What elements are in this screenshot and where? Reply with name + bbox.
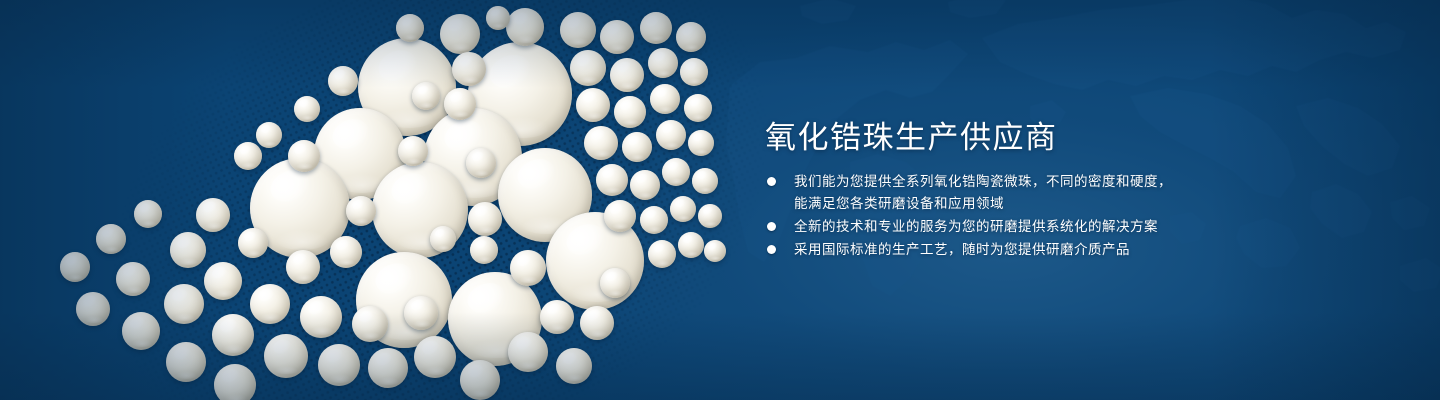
hero-banner: 氧化锆珠生产供应商 我们能为您提供全系列氧化锆陶瓷微珠，不同的密度和硬度， 能满… bbox=[0, 0, 1440, 400]
bullet-text-line: 能满足您各类研磨设备和应用领域 bbox=[794, 193, 1237, 215]
bullet-text-line: 采用国际标准的生产工艺，随时为您提供研磨介质产品 bbox=[794, 239, 1237, 261]
list-item: 采用国际标准的生产工艺，随时为您提供研磨介质产品 bbox=[767, 239, 1237, 261]
list-item: 全新的技术和专业的服务为您的研磨提供系统化的解决方案 bbox=[767, 216, 1237, 238]
banner-content: 氧化锆珠生产供应商 我们能为您提供全系列氧化锆陶瓷微珠，不同的密度和硬度， 能满… bbox=[765, 0, 1365, 400]
feature-bullet-list: 我们能为您提供全系列氧化锆陶瓷微珠，不同的密度和硬度， 能满足您各类研磨设备和应… bbox=[767, 171, 1237, 262]
page-title: 氧化锆珠生产供应商 bbox=[765, 112, 1058, 157]
bullet-dot-icon bbox=[767, 245, 776, 254]
bullet-text-line: 我们能为您提供全系列氧化锆陶瓷微珠，不同的密度和硬度， bbox=[794, 171, 1237, 193]
bullet-dot-icon bbox=[767, 177, 776, 186]
bullet-dot-icon bbox=[767, 222, 776, 231]
list-item: 我们能为您提供全系列氧化锆陶瓷微珠，不同的密度和硬度， 能满足您各类研磨设备和应… bbox=[767, 171, 1237, 215]
bullet-text-line: 全新的技术和专业的服务为您的研磨提供系统化的解决方案 bbox=[794, 216, 1237, 238]
